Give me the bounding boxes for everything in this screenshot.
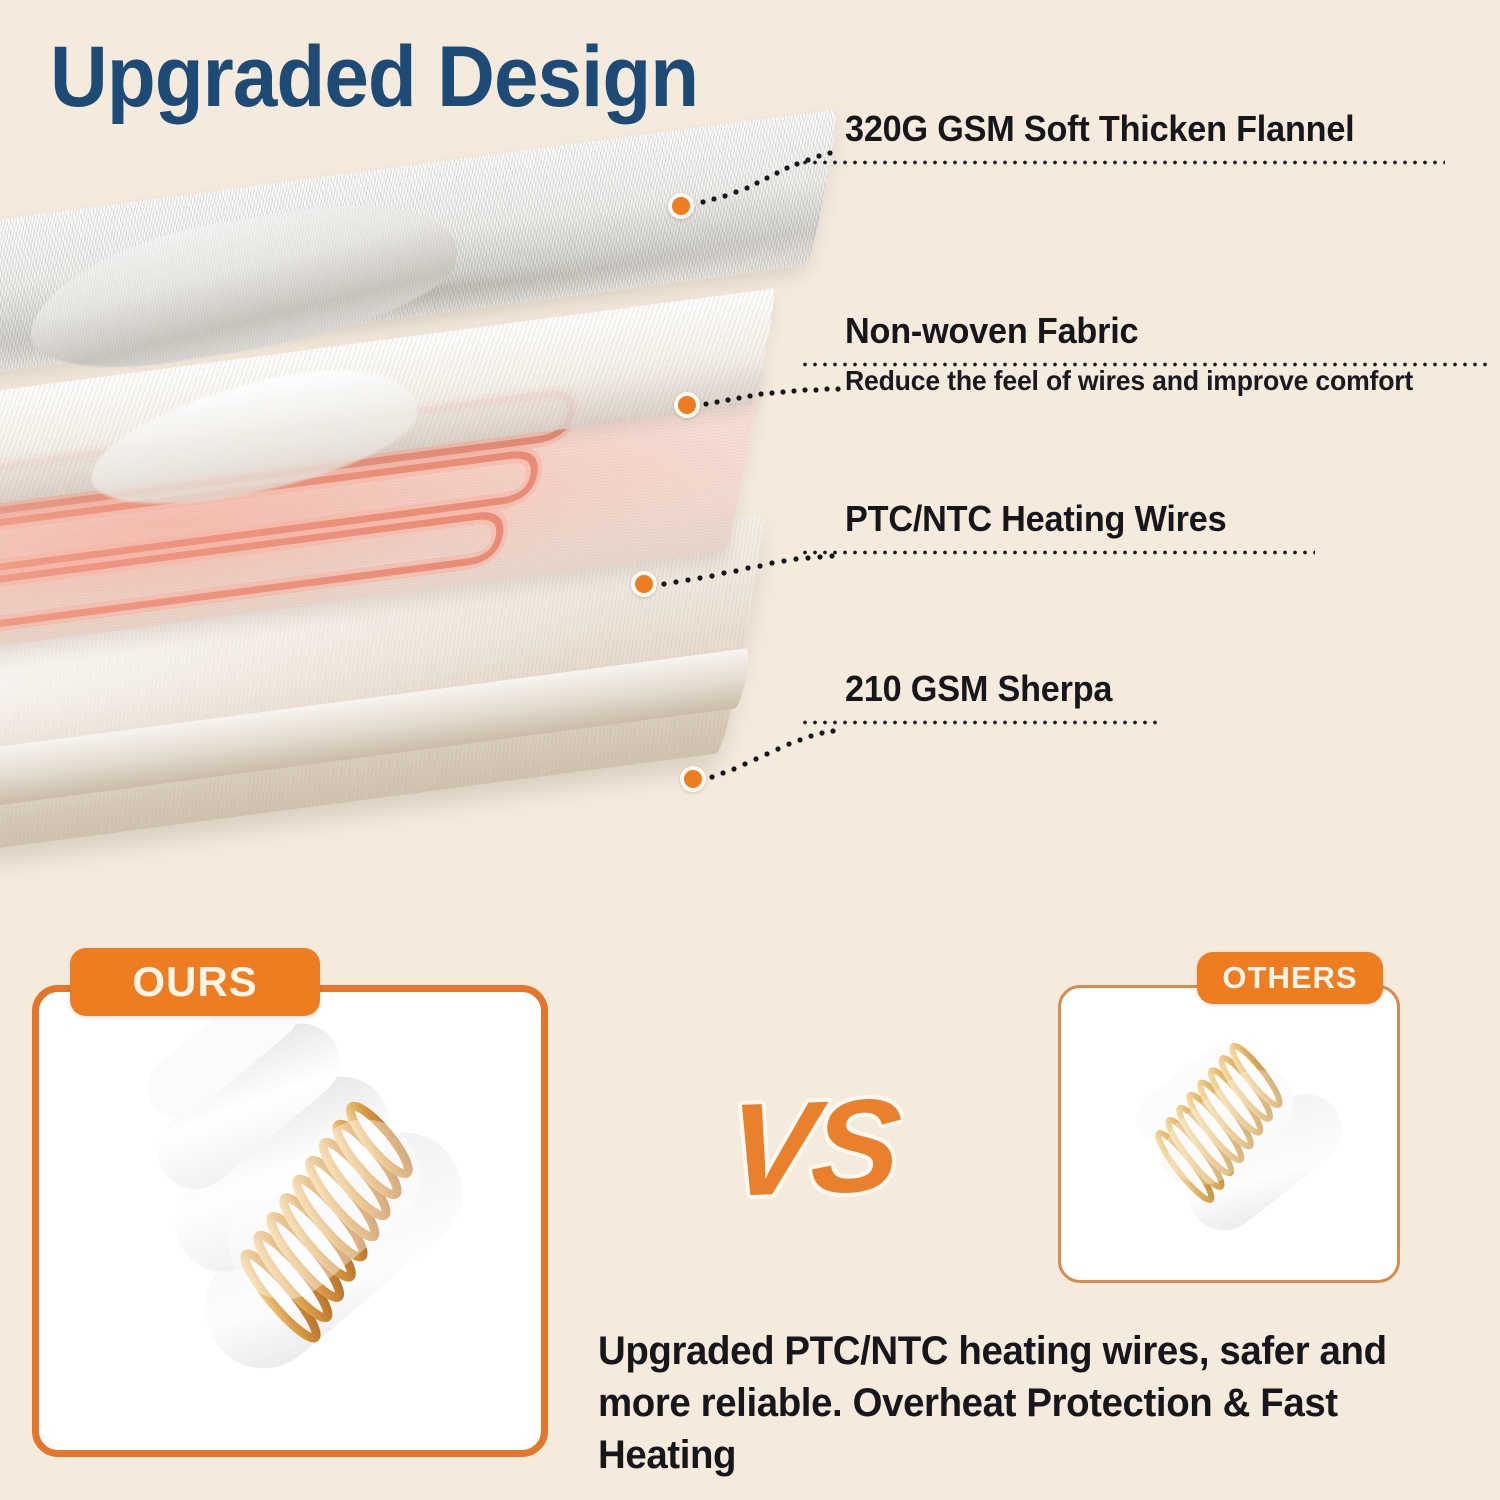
blanket-layers-illustration: [0, 150, 870, 950]
callout-non-woven-heading: Non-woven Fabric: [845, 310, 1415, 352]
callout-dot-non-woven: [674, 392, 700, 418]
ours-badge: OURS: [70, 948, 320, 1016]
callout-heating-wires-heading: PTC/NTC Heating Wires: [845, 498, 1226, 540]
callout-non-woven: Non-woven Fabric Reduce the feel of wire…: [845, 310, 1445, 399]
others-badge: OTHERS: [1197, 952, 1383, 1004]
others-cable-illustration: [1065, 992, 1395, 1278]
infographic-canvas: Upgraded Design: [0, 0, 1500, 1500]
callout-heating-wires-rule: [800, 550, 1315, 555]
callout-dot-sherpa: [680, 766, 706, 792]
callout-heating-wires: PTC/NTC Heating Wires: [845, 498, 1247, 540]
callout-flannel: 320G GSM Soft Thicken Flannel: [845, 108, 1381, 150]
callout-flannel-heading: 320G GSM Soft Thicken Flannel: [845, 108, 1354, 150]
others-panel: [1058, 985, 1400, 1283]
callout-flannel-rule: [800, 160, 1445, 165]
vs-label: VS: [722, 1069, 901, 1226]
callout-sherpa-rule: [800, 720, 1160, 725]
callout-dot-heating-wires: [631, 571, 657, 597]
callout-sherpa-heading: 210 GSM Sherpa: [845, 668, 1112, 710]
ours-panel: [32, 985, 548, 1457]
callout-dot-flannel: [668, 193, 694, 219]
callout-sherpa: 210 GSM Sherpa: [845, 668, 1126, 710]
ours-cable-illustration: [31, 984, 541, 1450]
comparison-description: Upgraded PTC/NTC heating wires, safer an…: [598, 1325, 1395, 1481]
page-title: Upgraded Design: [50, 28, 698, 127]
callout-non-woven-sub: Reduce the feel of wires and improve com…: [845, 364, 1415, 399]
